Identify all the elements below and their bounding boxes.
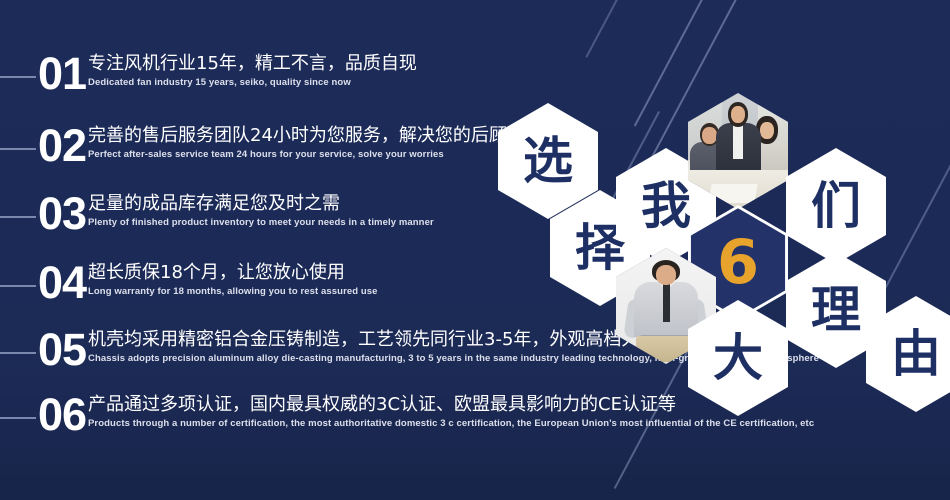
hexagon-li-glyph: 理: [811, 285, 861, 335]
hexagon-cluster: 选 择 我 6: [0, 0, 950, 500]
hexagon-wo-glyph: 我: [641, 181, 691, 231]
hexagon-men-glyph: 们: [811, 181, 861, 231]
hexagon-men[interactable]: 们: [786, 148, 886, 264]
banner-stage: 01 专注风机行业15年，精工不言，品质自现 Dedicated fan ind…: [0, 0, 950, 500]
hexagon-you-glyph: 由: [891, 329, 941, 379]
hexagon-da-glyph: 大: [713, 333, 763, 383]
hexagon-six-glyph: 6: [717, 233, 759, 293]
hexagon-xuan-glyph: 选: [523, 136, 573, 186]
